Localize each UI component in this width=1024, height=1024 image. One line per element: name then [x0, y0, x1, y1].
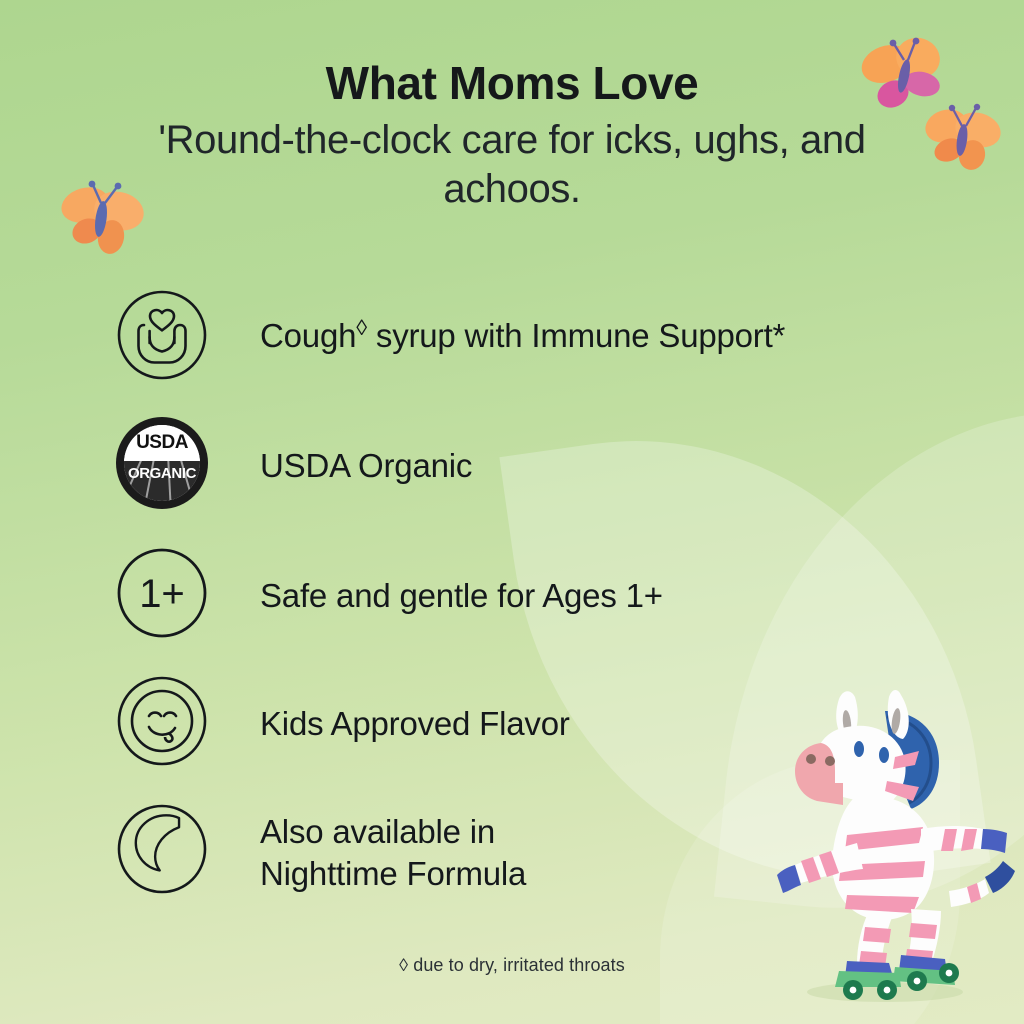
- feature-row-cough-syrup: Cough◊ syrup with Immune Support*: [0, 283, 1024, 413]
- diamond-footnote-marker: ◊: [356, 315, 367, 340]
- feature-text-flavor: Kids Approved Flavor: [260, 703, 570, 745]
- feature-text-usda-organic: USDA Organic: [260, 445, 472, 487]
- header: What Moms Love 'Round-the-clock care for…: [0, 60, 1024, 214]
- footnote: ◊ due to dry, irritated throats: [0, 955, 1024, 976]
- feature-row-usda-organic: USDA ORGANIC USDA Organic: [0, 413, 1024, 543]
- hands-holding-heart-icon: [116, 289, 208, 381]
- page-title: What Moms Love: [0, 60, 1024, 106]
- promo-card: What Moms Love 'Round-the-clock care for…: [0, 0, 1024, 1024]
- age-one-plus-icon: 1+: [116, 547, 208, 639]
- page-subtitle: 'Round-the-clock care for icks, ughs, an…: [117, 116, 907, 214]
- usda-seal-top-label: USDA: [136, 432, 188, 454]
- feature-row-ages: 1+ Safe and gentle for Ages 1+: [0, 543, 1024, 673]
- svg-text:1+: 1+: [139, 572, 185, 616]
- feature-text-cough-syrup: Cough◊ syrup with Immune Support*: [260, 315, 785, 357]
- smiley-tongue-icon: [116, 675, 208, 767]
- usda-organic-seal-icon: USDA ORGANIC: [116, 417, 208, 509]
- crescent-moon-icon: [116, 803, 208, 895]
- feature-text-nighttime: Also available in Nighttime Formula: [260, 811, 526, 895]
- feature-text-ages: Safe and gentle for Ages 1+: [260, 575, 663, 617]
- zebra-mascot: [735, 665, 1024, 1005]
- usda-seal-bottom-label: ORGANIC: [124, 465, 200, 482]
